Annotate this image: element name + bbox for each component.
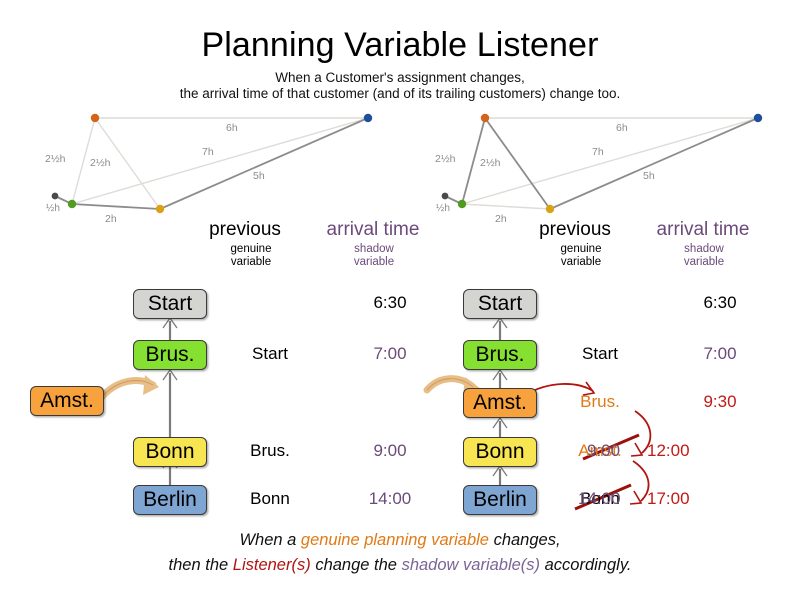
chain-after: Start Brus. Amst. Bonn Berlin Start Brus… xyxy=(335,283,725,518)
header-arrival-sub-1: shadow xyxy=(309,243,439,256)
arrival-value-amst: 9:30 xyxy=(655,392,785,412)
arrival-value-start: 6:30 xyxy=(655,293,785,313)
footer-line-2: then the Listener(s) change the shadow v… xyxy=(0,556,800,575)
node-box-amst[interactable]: Amst. xyxy=(463,388,537,418)
graph-node-depot xyxy=(442,193,449,200)
arrival-new-value-berlin: 17:00 xyxy=(647,489,690,509)
header-previous-sub-1: genuine xyxy=(521,243,641,256)
route-graph-after: ½h 2½h 2½h 2h 6h 7h 5h xyxy=(400,104,790,226)
header-previous: previous xyxy=(515,219,635,241)
graph-node-gold xyxy=(546,205,554,213)
previous-value-berlin: Bonn xyxy=(210,489,330,509)
footer-emphasis-shadow: shadow variable(s) xyxy=(402,556,540,574)
footer-text-2c: accordingly. xyxy=(540,556,631,574)
subtitle-line-2: the arrival time of that customer (and o… xyxy=(0,86,800,101)
graph-node-green xyxy=(458,200,466,208)
header-arrival-sub: shadow variable xyxy=(309,243,439,269)
edge-label-two-half-a: 2½h xyxy=(435,153,456,165)
header-previous-sub-1: genuine xyxy=(191,243,311,256)
edge-label-six-h: 6h xyxy=(616,122,628,134)
node-box-bonn[interactable]: Bonn xyxy=(133,437,207,467)
footer-text-1b: changes, xyxy=(489,531,561,549)
header-arrival-time: arrival time xyxy=(303,219,443,241)
footer-line-1: When a genuine planning variable changes… xyxy=(0,531,800,550)
node-box-brus[interactable]: Brus. xyxy=(463,340,537,370)
edge-label-half-h: ½h xyxy=(436,203,450,214)
node-box-start[interactable]: Start xyxy=(463,289,537,319)
footer-emphasis-genuine: genuine planning variable xyxy=(301,531,489,549)
header-arrival-sub: shadow variable xyxy=(639,243,769,269)
subtitle-line-1: When a Customer's assignment changes, xyxy=(0,70,800,85)
arrival-new-value-bonn: 12:00 xyxy=(647,441,690,461)
footer-emphasis-listener: Listener(s) xyxy=(233,556,311,574)
graph-node-green xyxy=(68,200,76,208)
edge-label-two-half-b: 2½h xyxy=(90,157,111,169)
node-box-bonn[interactable]: Bonn xyxy=(463,437,537,467)
previous-value-brus: Start xyxy=(540,344,660,364)
edge-label-two-h: 2h xyxy=(105,213,117,225)
header-previous-sub: genuine variable xyxy=(191,243,311,269)
edge-label-seven-h: 7h xyxy=(202,146,214,158)
edge-label-five-h: 5h xyxy=(643,170,655,182)
header-arrival-sub-2: variable xyxy=(309,256,439,269)
graph-node-orange xyxy=(91,114,99,122)
slide-canvas: Planning Variable Listener When a Custom… xyxy=(0,0,800,600)
edge-label-seven-h: 7h xyxy=(592,146,604,158)
header-previous-sub-2: variable xyxy=(521,256,641,269)
edge-label-six-h: 6h xyxy=(226,122,238,134)
page-title: Planning Variable Listener xyxy=(0,26,800,65)
edge-label-half-h: ½h xyxy=(46,203,60,214)
footer-text-2a: then the xyxy=(169,556,233,574)
header-arrival-sub-2: variable xyxy=(639,256,769,269)
previous-value-bonn: Brus. xyxy=(210,441,330,461)
previous-value-brus: Start xyxy=(210,344,330,364)
edge-label-two-half-b: 2½h xyxy=(480,157,501,169)
graph-node-blue xyxy=(754,114,762,122)
footer-text-1a: When a xyxy=(239,531,300,549)
header-previous-sub: genuine variable xyxy=(521,243,641,269)
arrival-value-brus: 7:00 xyxy=(655,344,785,364)
footer-text-2b: change the xyxy=(311,556,402,574)
graph-node-blue xyxy=(364,114,372,122)
edge-label-five-h: 5h xyxy=(253,170,265,182)
graph-node-depot xyxy=(52,193,59,200)
header-previous-sub-2: variable xyxy=(191,256,311,269)
header-arrival-time: arrival time xyxy=(633,219,773,241)
node-box-berlin[interactable]: Berlin xyxy=(133,485,207,515)
column-headers-after: previous arrival time genuine variable s… xyxy=(515,219,775,281)
graph-node-orange xyxy=(481,114,489,122)
previous-value-amst: Brus. xyxy=(540,392,660,412)
arrival-old-value-bonn: 9:00 xyxy=(587,441,620,461)
node-box-amst-floating[interactable]: Amst. xyxy=(30,386,104,416)
header-arrival-sub-1: shadow xyxy=(639,243,769,256)
route-graph-before: ½h 2½h 2½h 2h 6h 7h 5h xyxy=(10,104,400,226)
insertion-arrow-tan xyxy=(101,375,159,398)
node-box-berlin[interactable]: Berlin xyxy=(463,485,537,515)
column-headers-before: previous arrival time genuine variable s… xyxy=(185,219,445,281)
arrival-old-value-berlin: 14:00 xyxy=(578,489,621,509)
node-box-brus[interactable]: Brus. xyxy=(133,340,207,370)
header-previous: previous xyxy=(185,219,305,241)
node-box-start[interactable]: Start xyxy=(133,289,207,319)
edge-label-two-half-a: 2½h xyxy=(45,153,66,165)
graph-node-gold xyxy=(156,205,164,213)
edge-label-two-h: 2h xyxy=(495,213,507,225)
